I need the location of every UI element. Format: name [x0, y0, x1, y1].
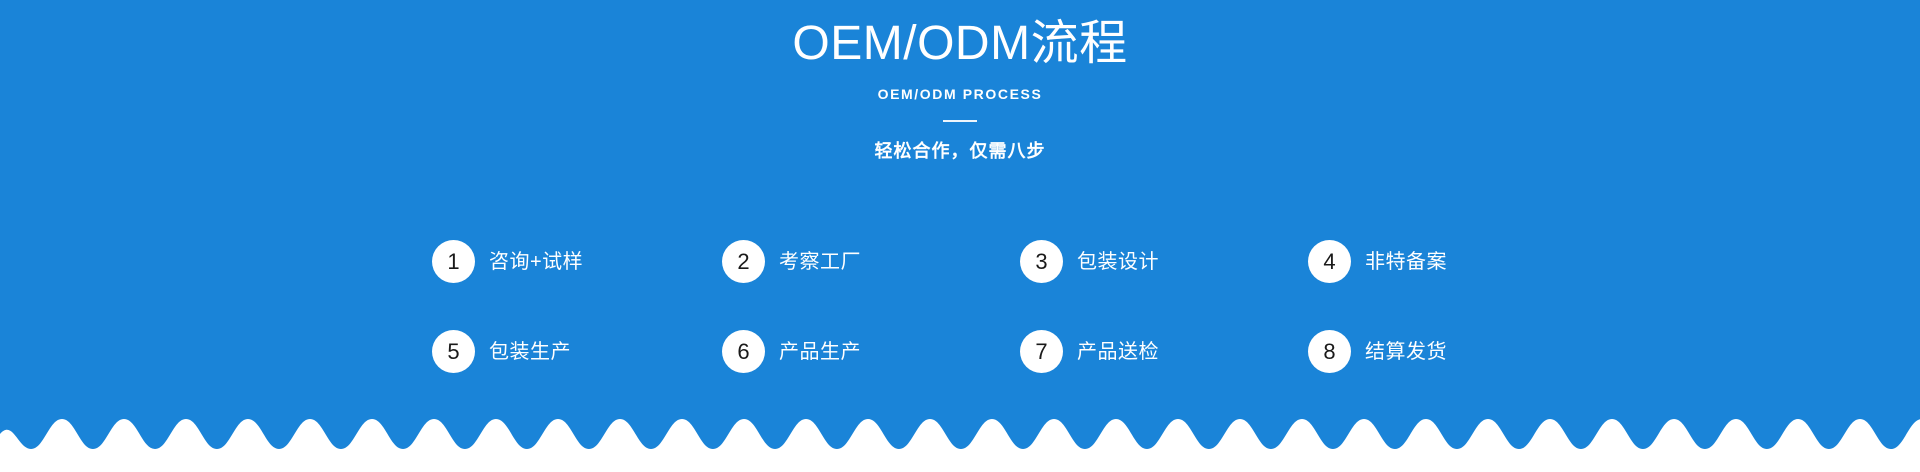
process-step-3[interactable]: 3 包装设计 — [1012, 240, 1302, 283]
step-label: 产品送检 — [1077, 338, 1159, 366]
step-label: 结算发货 — [1365, 338, 1447, 366]
step-label: 咨询+试样 — [489, 248, 583, 276]
step-number-badge: 4 — [1308, 240, 1351, 283]
process-step-2[interactable]: 2 考察工厂 — [722, 240, 1012, 283]
page-title: OEM/ODM流程 — [0, 14, 1920, 74]
process-step-1[interactable]: 1 咨询+试样 — [432, 240, 722, 283]
process-steps-row-1: 1 咨询+试样 2 考察工厂 3 包装设计 4 非特备案 — [432, 240, 1488, 283]
step-label: 考察工厂 — [779, 248, 861, 276]
step-number-badge: 2 — [722, 240, 765, 283]
process-step-8[interactable]: 8 结算发货 — [1302, 330, 1447, 373]
process-steps-row-2: 5 包装生产 6 产品生产 7 产品送检 8 结算发货 — [432, 330, 1488, 373]
step-label: 非特备案 — [1365, 248, 1447, 276]
title-divider — [943, 120, 977, 122]
step-number-badge: 7 — [1020, 330, 1063, 373]
step-number-badge: 5 — [432, 330, 475, 373]
step-number-badge: 1 — [432, 240, 475, 283]
step-label: 包装设计 — [1077, 248, 1159, 276]
step-label: 产品生产 — [779, 338, 861, 366]
process-step-7[interactable]: 7 产品送检 — [1012, 330, 1302, 373]
wave-divider-bottom — [0, 416, 1920, 472]
step-number-badge: 8 — [1308, 330, 1351, 373]
step-label: 包装生产 — [489, 338, 571, 366]
banner-header: OEM/ODM流程 OEM/ODM PROCESS 轻松合作，仅需八步 — [0, 0, 1920, 164]
process-step-4[interactable]: 4 非特备案 — [1302, 240, 1447, 283]
process-step-6[interactable]: 6 产品生产 — [722, 330, 1012, 373]
page-tagline: 轻松合作，仅需八步 — [0, 138, 1920, 164]
title-divider-wrap — [0, 118, 1920, 122]
step-number-badge: 3 — [1020, 240, 1063, 283]
page-subtitle: OEM/ODM PROCESS — [0, 84, 1920, 104]
process-steps: 1 咨询+试样 2 考察工厂 3 包装设计 4 非特备案 5 包装生产 — [0, 240, 1920, 373]
process-step-5[interactable]: 5 包装生产 — [432, 330, 722, 373]
step-number-badge: 6 — [722, 330, 765, 373]
oem-odm-process-banner: OEM/ODM流程 OEM/ODM PROCESS 轻松合作，仅需八步 1 咨询… — [0, 0, 1920, 472]
